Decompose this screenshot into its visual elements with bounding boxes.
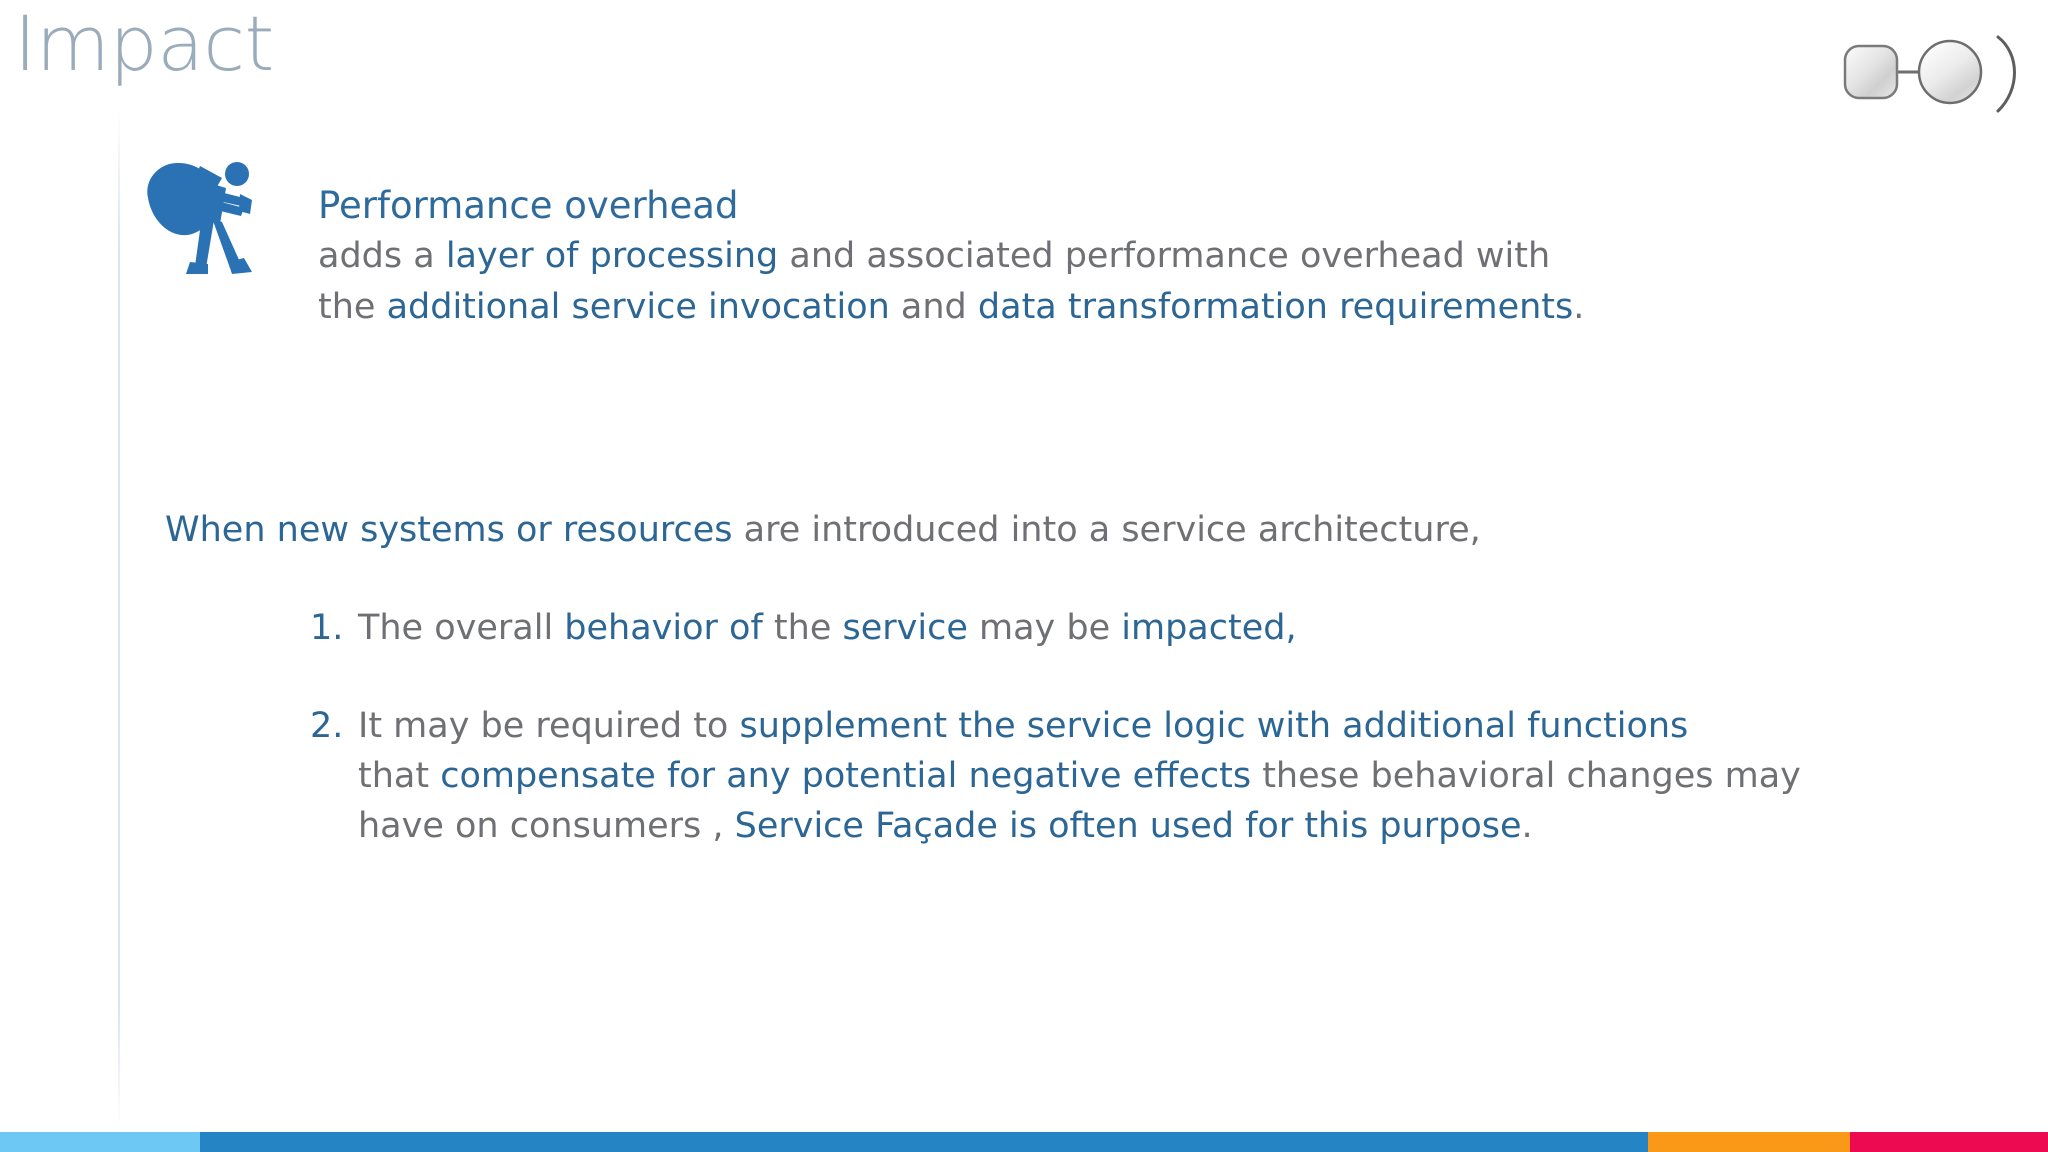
vertical-divider xyxy=(118,105,120,1130)
list-item: 1. The overall behavior of the service m… xyxy=(310,603,2010,653)
company-logo xyxy=(1840,14,2030,132)
list-item-number: 2. xyxy=(310,701,358,751)
callout-heading: Performance overhead xyxy=(318,180,1718,231)
slide-root: Impact xyxy=(0,0,2048,1152)
page-title: Impact xyxy=(14,6,274,82)
list-item-text: It may be required to supplement the ser… xyxy=(358,701,2010,851)
bar-segment-light-blue xyxy=(0,1132,200,1152)
callout-line-2: adds a layer of processing and associate… xyxy=(318,231,1718,282)
bottom-color-bar xyxy=(0,1132,2048,1152)
callout-text-block: Performance overhead adds a layer of pro… xyxy=(318,180,1718,333)
intro-line: When new systems or resources are introd… xyxy=(165,505,1965,555)
callout-line-3: the additional service invocation and da… xyxy=(318,282,1718,333)
list-item-number: 1. xyxy=(310,603,358,653)
bar-segment-crimson xyxy=(1850,1132,2048,1152)
bar-segment-blue xyxy=(200,1132,1648,1152)
list-item-text: The overall behavior of the service may … xyxy=(358,603,2010,653)
intro-text-block: When new systems or resources are introd… xyxy=(165,505,1965,555)
list-item: 2. It may be required to supplement the … xyxy=(310,701,2010,851)
numbered-list: 1. The overall behavior of the service m… xyxy=(310,603,2010,899)
bar-segment-orange xyxy=(1648,1132,1850,1152)
man-carrying-sack-icon xyxy=(140,152,270,282)
